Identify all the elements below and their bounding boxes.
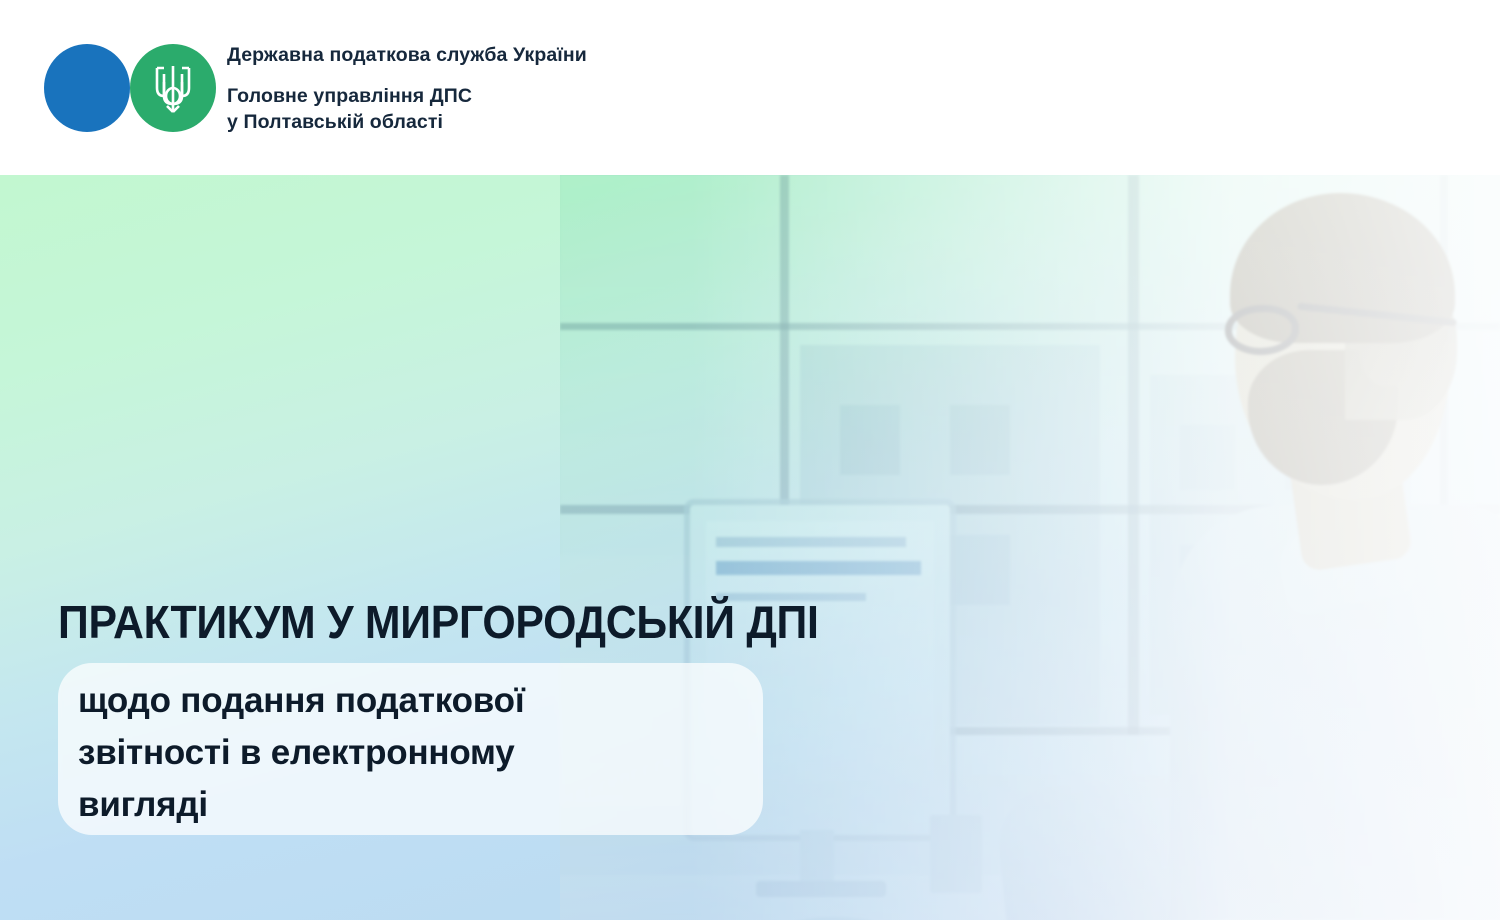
site-header: Державна податкова служба України Головн… — [0, 0, 1500, 175]
page-title: ПРАКТИКУМ У МИРГОРОДСЬКІЙ ДПІ — [58, 594, 819, 650]
subtitle-line-3: вигляді — [78, 779, 778, 831]
banner-page: Державна податкова служба України Головн… — [0, 0, 1500, 920]
org-title-main: Державна податкова служба України — [227, 42, 847, 68]
hero-banner: ПРАКТИКУМ У МИРГОРОДСЬКІЙ ДПІ щодо подан… — [0, 175, 1500, 920]
subtitle-line-2: звітності в електронному — [78, 727, 778, 779]
logo-blue-circle-icon — [44, 44, 130, 132]
org-title-region: у Полтавській області — [227, 109, 847, 135]
dps-logo — [44, 44, 192, 132]
subtitle-line-1: щодо подання податкової — [78, 675, 778, 727]
page-subtitle: щодо подання податкової звітності в елек… — [78, 675, 778, 831]
org-title-department: Головне управління ДПС — [227, 83, 847, 109]
ukrainian-trident-icon — [152, 62, 194, 116]
organisation-titles: Державна податкова служба України Головн… — [227, 42, 847, 135]
